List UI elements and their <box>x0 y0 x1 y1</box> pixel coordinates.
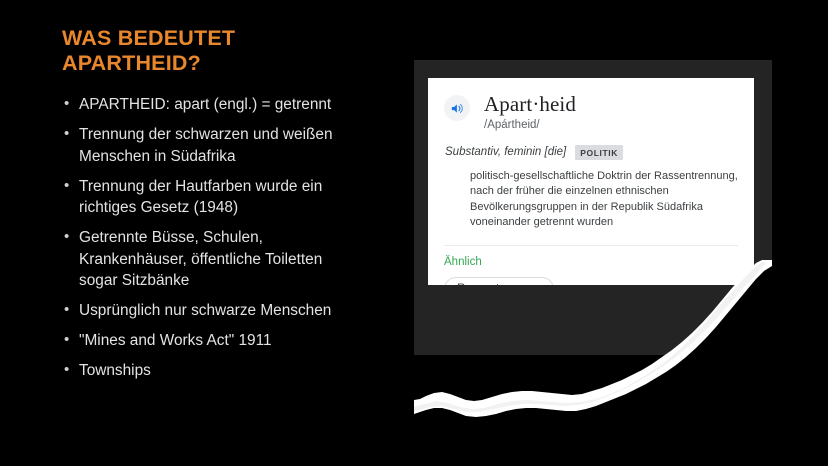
list-item: "Mines and Works Act" 1911 <box>62 330 407 352</box>
similar-chip[interactable]: Rassentrennung <box>444 277 554 286</box>
slide-canvas: WAS BEDEUTET APARTHEID? APARTHEID: apart… <box>0 0 828 466</box>
list-item: APARTHEID: apart (engl.) = getrennt <box>62 94 407 116</box>
list-item: Trennung der schwarzen und weißen Mensch… <box>62 124 407 167</box>
similar-chip-row: Rassentrennung <box>444 277 738 286</box>
headword: Apart·heid <box>484 92 576 116</box>
list-item: Trennung der Hautfarben wurde ein richti… <box>62 176 407 219</box>
bullet-list: APARTHEID: apart (engl.) = getrennt Tren… <box>62 94 407 382</box>
dictionary-card-header: Apart·heid /Apártheid/ <box>444 92 738 133</box>
list-item: Getrennte Büsse, Schulen, Krankenhäuser,… <box>62 227 407 292</box>
list-item: Usprünglich nur schwarze Menschen <box>62 300 407 322</box>
dictionary-card: Apart·heid /Apártheid/ Substantiv, femin… <box>428 78 754 285</box>
status-badge: POLITIK <box>575 145 623 160</box>
list-item: Townships <box>62 360 407 382</box>
pronunciation: /Apártheid/ <box>484 118 576 133</box>
page-title: WAS BEDEUTET APARTHEID? <box>62 26 407 76</box>
part-of-speech: Substantiv, feminin [die] <box>445 146 566 158</box>
speaker-icon[interactable] <box>444 95 470 121</box>
divider <box>444 245 738 246</box>
screenshot-image-panel: Apart·heid /Apártheid/ Substantiv, femin… <box>414 60 772 355</box>
definition-text: politisch-gesellschaftliche Doktrin der … <box>470 169 738 231</box>
part-of-speech-row: Substantiv, feminin [die] POLITIK <box>445 145 738 160</box>
headword-block: Apart·heid /Apártheid/ <box>484 92 576 133</box>
slide-text-column: WAS BEDEUTET APARTHEID? APARTHEID: apart… <box>62 26 407 390</box>
similar-section-label: Ähnlich <box>444 255 738 269</box>
